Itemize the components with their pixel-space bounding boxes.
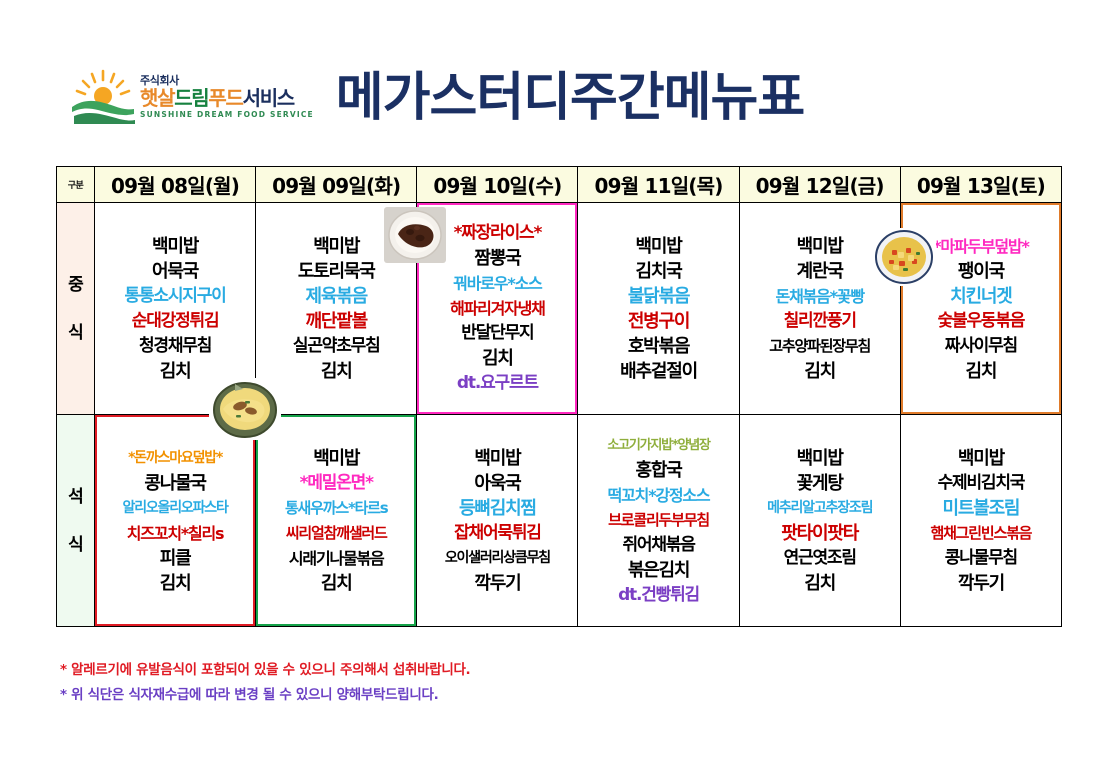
- cell-dinner-wed[interactable]: 백미밥아욱국등뼈김치찜잡채어묵튀김오이샐러리상큼무침깍두기: [417, 415, 578, 627]
- mapo-tofu-photo: [872, 228, 936, 286]
- header-day-mon: 09월 08일(월): [95, 167, 256, 203]
- dish-item: 등뼈김치찜: [417, 496, 577, 521]
- dish-item: 꿔바로우*소스: [417, 271, 577, 296]
- dish-item: 햄채그린빈스볶음: [901, 521, 1061, 546]
- row-label-dinner-char-2: 식: [57, 536, 94, 554]
- dish-item: *메밀온면*: [256, 471, 416, 496]
- dish-item: 제육볶음: [256, 284, 416, 309]
- dish-item: 김치: [740, 571, 900, 596]
- dish-item: 백미밥: [578, 234, 738, 259]
- dish-item: 홍합국: [578, 458, 738, 483]
- dish-item: 백미밥: [740, 446, 900, 471]
- dinner-row: 석식 *돈까스마요덮밥*콩나물국알리오올리오파스타치즈꼬치*칠리s피클김치 백미…: [57, 415, 1062, 627]
- dish-item: 치즈꼬치*칠리s: [95, 521, 255, 546]
- dish-item: 알리오올리오파스타: [95, 496, 255, 521]
- cell-dinner-thu[interactable]: 소고기가지밥*양념장홍합국떡꼬치*강정소스브로콜리두부무침쥐어채볶음볶은김치dt…: [578, 415, 739, 627]
- page-title: 메가스터디주간메뉴표: [290, 56, 850, 128]
- dish-item: 콩나물국: [95, 471, 255, 496]
- dish-item: 짜사이무침: [901, 334, 1061, 359]
- dish-item: 불닭볶음: [578, 284, 738, 309]
- dish-item: 고추양파된장무침: [740, 334, 900, 359]
- cell-dinner-sat[interactable]: 백미밥수제비김치국미트볼조림햄채그린빈스볶음콩나물무침깍두기: [900, 415, 1061, 627]
- dish-item: 김치: [901, 359, 1061, 384]
- dish-item: 오이샐러리상큼무침: [417, 546, 577, 571]
- menu-page: 주식회사 햇살드림푸드서비스 SUNSHINE DREAM FOOD SERVI…: [0, 0, 1113, 776]
- dish-item: 메추리알고추장조림: [740, 496, 900, 521]
- dish-item: 미트볼조림: [901, 496, 1061, 521]
- dish-item: 해파리겨자냉채: [417, 296, 577, 321]
- jjajang-rice-photo: [384, 207, 446, 263]
- dish-item: 시래기나물볶음: [256, 546, 416, 571]
- row-label-dinner: 석식: [57, 415, 95, 627]
- table-header-row: 구분 09월 08일(월) 09월 09일(화) 09월 10일(수) 09월 …: [57, 167, 1062, 203]
- dish-item: 콩나물무침: [901, 546, 1061, 571]
- dish-item: 김치국: [578, 259, 738, 284]
- header-day-wed: 09월 10일(수): [417, 167, 578, 203]
- dish-item: dt.건빵튀김: [578, 583, 738, 608]
- row-label-lunch: 중식: [57, 203, 95, 415]
- header-day-fri: 09월 12일(금): [739, 167, 900, 203]
- dish-item: 씨리얼참깨샐러드: [256, 521, 416, 546]
- dish-item: 백미밥: [256, 446, 416, 471]
- note-change: * 위 식단은 식자재수급에 따라 변경 될 수 있으니 양해부탁드립니다.: [60, 683, 760, 708]
- dish-item: 백미밥: [417, 446, 577, 471]
- header-day-sat: 09월 13일(토): [900, 167, 1061, 203]
- cell-dinner-fri[interactable]: 백미밥꽃게탕메추리알고추장조림팟타이팟타연근엿조림김치: [739, 415, 900, 627]
- dish-item: 잡채어묵튀김: [417, 521, 577, 546]
- dish-item: 호박볶음: [578, 334, 738, 359]
- dish-item: 김치: [95, 571, 255, 596]
- dish-item: 꽃게탕: [740, 471, 900, 496]
- dish-item: 통새우까스*타르s: [256, 496, 416, 521]
- company-name-ko: 햇살드림푸드서비스: [140, 87, 314, 110]
- dish-item: 반달단무지: [417, 321, 577, 346]
- dish-item: 어묵국: [95, 259, 255, 284]
- header-day-thu: 09월 11일(목): [578, 167, 739, 203]
- footer-notes: * 알레르기에 유발음식이 포함되어 있을 수 있으니 주의해서 섭취바랍니다.…: [60, 658, 760, 708]
- dish-item: 치킨너겟: [901, 284, 1061, 309]
- dish-item: 순대강정튀김: [95, 309, 255, 334]
- note-allergy: * 알레르기에 유발음식이 포함되어 있을 수 있으니 주의해서 섭취바랍니다.: [60, 658, 760, 683]
- dish-item: 실곤약초무침: [256, 334, 416, 359]
- cell-dinner-tue[interactable]: 백미밥*메밀온면*통새우까스*타르s씨리얼참깨샐러드시래기나물볶음김치: [256, 415, 417, 627]
- dish-item: *돈까스마요덮밥*: [95, 446, 255, 471]
- donkatsu-mayo-rice-photo: [209, 378, 281, 440]
- dish-item: 아욱국: [417, 471, 577, 496]
- header-day-tue: 09월 09일(화): [256, 167, 417, 203]
- dish-item: 깍두기: [901, 571, 1061, 596]
- dish-item: 청경채무침: [95, 334, 255, 359]
- dish-item: 볶은김치: [578, 558, 738, 583]
- company-logo: 주식회사 햇살드림푸드서비스 SUNSHINE DREAM FOOD SERVI…: [70, 66, 285, 128]
- dish-item: 김치: [740, 359, 900, 384]
- dish-item: 백미밥: [901, 446, 1061, 471]
- cell-lunch-thu[interactable]: 백미밥김치국불닭볶음전병구이호박볶음배추겉절이: [578, 203, 739, 415]
- dish-item: 피클: [95, 546, 255, 571]
- page-header: 주식회사 햇살드림푸드서비스 SUNSHINE DREAM FOOD SERVI…: [0, 52, 1113, 144]
- dish-item: 돈채볶음*꽃빵: [740, 284, 900, 309]
- dish-item: 김치: [417, 346, 577, 371]
- dish-item: 깍두기: [417, 571, 577, 596]
- dish-item: 연근엿조림: [740, 546, 900, 571]
- header-gubun: 구분: [57, 167, 95, 203]
- dish-item: 배추겉절이: [578, 359, 738, 384]
- sun-over-field-icon: [70, 69, 136, 125]
- dish-item: 전병구이: [578, 309, 738, 334]
- dish-item: 통통소시지구이: [95, 284, 255, 309]
- dish-item: 깨단팥볼: [256, 309, 416, 334]
- row-label-lunch-char-2: 식: [57, 324, 94, 342]
- dish-item: 소고기가지밥*양념장: [578, 433, 738, 458]
- company-name-en: SUNSHINE DREAM FOOD SERVICE: [140, 110, 314, 120]
- row-label-dinner-char-1: 석: [57, 488, 94, 506]
- dish-item: dt.요구르트: [417, 371, 577, 396]
- dish-item: 브로콜리두부무침: [578, 508, 738, 533]
- row-label-lunch-char-1: 중: [57, 276, 94, 294]
- dish-item: 숯불우동볶음: [901, 309, 1061, 334]
- cell-dinner-mon[interactable]: *돈까스마요덮밥*콩나물국알리오올리오파스타치즈꼬치*칠리s피클김치: [95, 415, 256, 627]
- dish-item: 떡꼬치*강정소스: [578, 483, 738, 508]
- dish-item: 김치: [256, 571, 416, 596]
- dish-item: 쥐어채볶음: [578, 533, 738, 558]
- company-logo-text: 주식회사 햇살드림푸드서비스 SUNSHINE DREAM FOOD SERVI…: [140, 75, 314, 120]
- dish-item: 팟타이팟타: [740, 521, 900, 546]
- dish-item: 수제비김치국: [901, 471, 1061, 496]
- dish-item: 칠리깐풍기: [740, 309, 900, 334]
- dish-item: 백미밥: [95, 234, 255, 259]
